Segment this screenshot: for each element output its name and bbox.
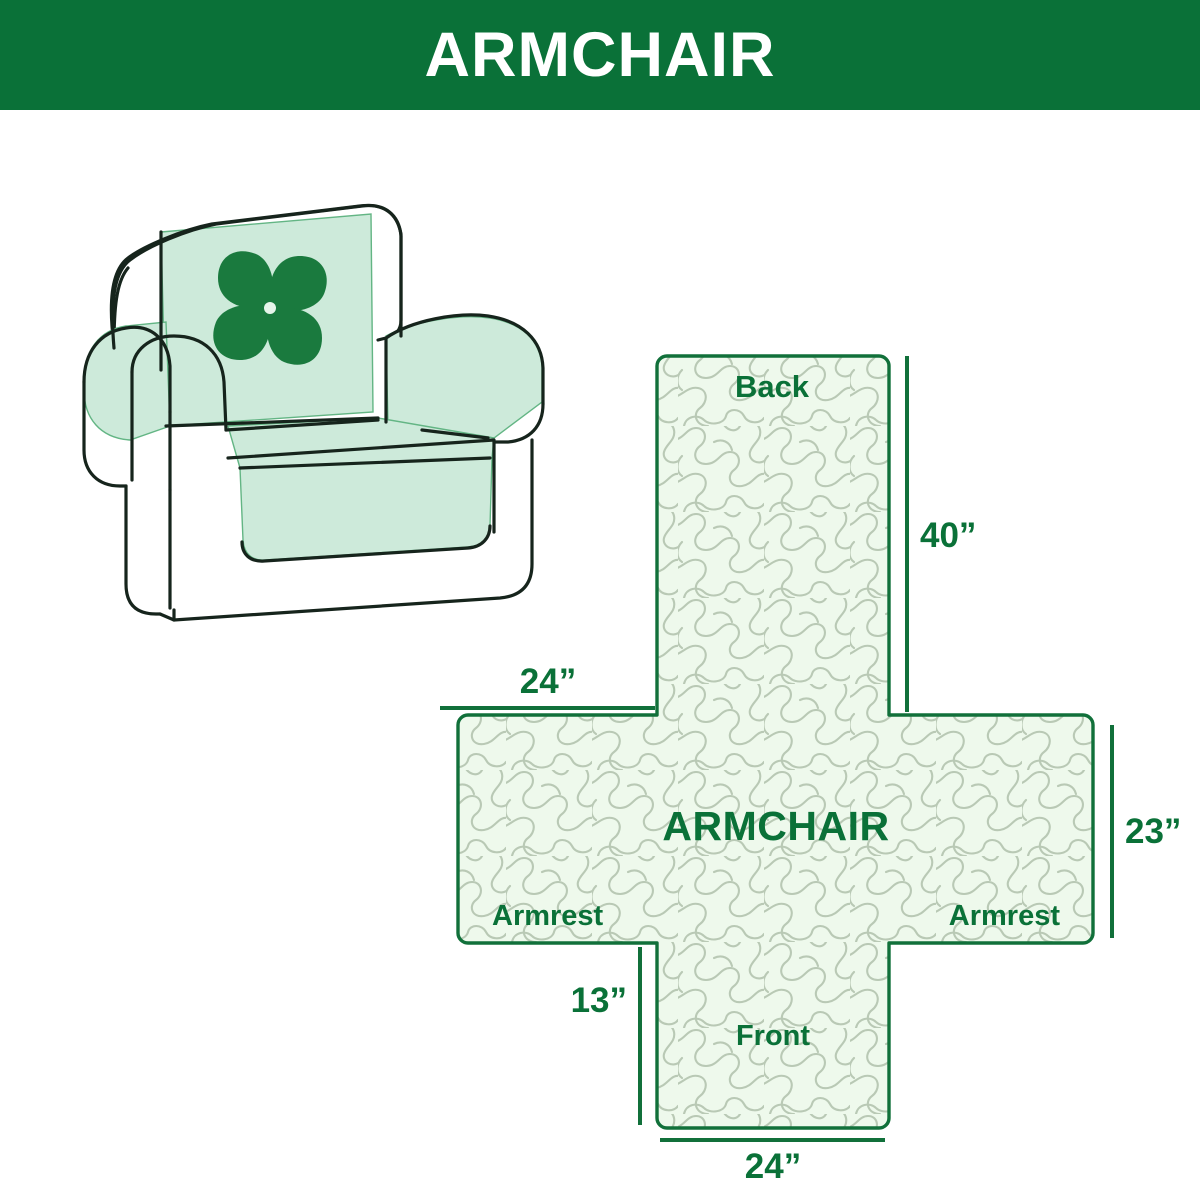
- page-title: ARMCHAIR: [425, 24, 776, 87]
- dimension-back-width: 24”: [440, 662, 655, 708]
- dimension-front-width: 24”: [660, 1140, 885, 1186]
- panel-label-armrest-left: Armrest: [492, 900, 604, 932]
- panel-label-back: Back: [735, 369, 810, 404]
- slipcover-cross-panel: [458, 356, 1093, 1128]
- panel-label-front: Front: [736, 1020, 810, 1052]
- dimension-label-armrest-depth: 23”: [1125, 812, 1181, 851]
- dimension-back-height: 40”: [907, 356, 976, 712]
- dimension-label-front-width: 24”: [745, 1147, 801, 1186]
- diagram-title: ARMCHAIR: [662, 803, 889, 849]
- diagram-stage: Back ARMCHAIR Armrest Armrest Front 40” …: [0, 110, 1200, 1200]
- dimension-armrest-depth: 23”: [1112, 725, 1181, 938]
- panel-label-armrest-right: Armrest: [949, 900, 1061, 932]
- dimension-label-back-height: 40”: [920, 516, 976, 555]
- dimension-label-front-height: 13”: [571, 981, 627, 1020]
- dimension-label-back-width: 24”: [520, 662, 576, 701]
- header-band: ARMCHAIR: [0, 0, 1200, 110]
- slipcover-layout-diagram: Back ARMCHAIR Armrest Armrest Front 40” …: [420, 340, 1200, 1140]
- dimension-front-height: 13”: [571, 947, 640, 1125]
